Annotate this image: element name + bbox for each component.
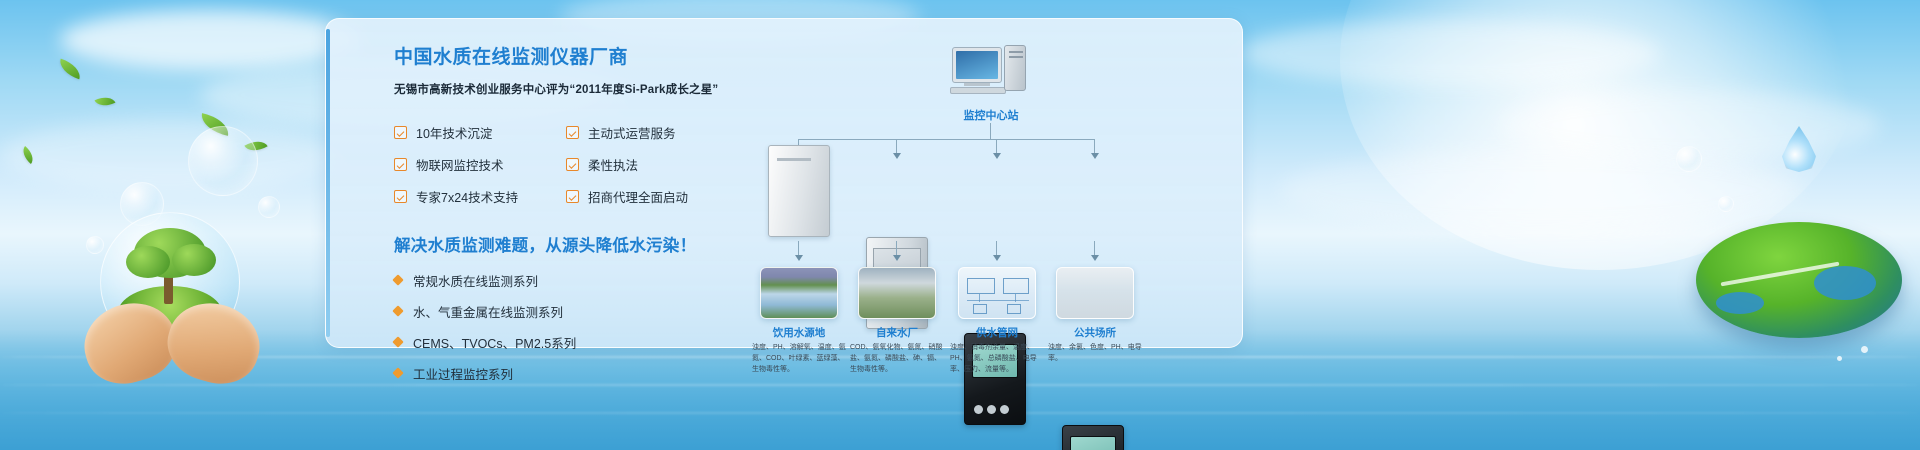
monitor-icon bbox=[952, 47, 1002, 83]
earth-lake bbox=[1814, 266, 1876, 300]
arrow-down-icon bbox=[893, 153, 901, 159]
arrow-down-icon bbox=[993, 255, 1001, 261]
connector-horizontal bbox=[798, 139, 1094, 140]
hands-holding-tree-illustration bbox=[78, 212, 268, 382]
feature-item[interactable]: 物联网监控技术 bbox=[394, 155, 566, 174]
monitor-stand bbox=[964, 83, 990, 86]
cloud bbox=[60, 10, 360, 70]
feature-item[interactable]: 招商代理全面启动 bbox=[566, 187, 738, 206]
wave-line bbox=[0, 384, 1920, 386]
cloud bbox=[1240, 20, 1660, 86]
left-content-column: 中国水质在线监测仪器厂商 无锡市高新技术创业服务中心评为“2011年度Si-Pa… bbox=[394, 47, 754, 395]
leaf-decoration bbox=[95, 93, 116, 111]
product-line-item[interactable]: 水、气重金属在线监测系列 bbox=[394, 302, 754, 321]
water-analyzer-cabinet-icon[interactable] bbox=[768, 145, 830, 237]
scenario-description: 浊度、PH、溶解氧、温度、氨氮、COD、叶绿素、蓝绿藻、生物毒性等。 bbox=[752, 343, 848, 376]
keyboard-icon bbox=[950, 87, 1006, 94]
tree-foliage-icon bbox=[126, 246, 170, 278]
earth-lake bbox=[1716, 292, 1764, 314]
scenario-description: 浊度、消毒剂余量、温度、PH、氨氮、总磷酸盐、电导率、压力、流量等。 bbox=[950, 343, 1046, 376]
public-tap-photo[interactable] bbox=[1056, 267, 1134, 319]
diamond-bullet-icon bbox=[392, 368, 403, 379]
product-line-label: 常规水质在线监测系列 bbox=[413, 271, 538, 290]
wave-line bbox=[0, 412, 1920, 414]
feature-item[interactable]: 专家7x24技术支持 bbox=[394, 187, 566, 206]
monitoring-topology-diagram: 监控中心站 bbox=[756, 37, 1226, 337]
leaf-decoration bbox=[56, 59, 83, 80]
page-subtitle: 无锡市高新技术创业服务中心评为“2011年度Si-Park成长之星” bbox=[394, 81, 754, 97]
checkbox-icon bbox=[394, 158, 407, 171]
product-line-item[interactable]: 常规水质在线监测系列 bbox=[394, 271, 754, 290]
feature-checklist: 10年技术沉淀 主动式运营服务 物联网监控技术 柔性执法 专家7x24技术支持 … bbox=[394, 123, 754, 206]
arrow-down-icon bbox=[795, 255, 803, 261]
bubble-decoration bbox=[1676, 146, 1702, 172]
green-earth-illustration bbox=[1696, 222, 1902, 338]
arrow-down-icon bbox=[893, 255, 901, 261]
checkbox-icon bbox=[566, 190, 579, 203]
diamond-bullet-icon bbox=[392, 306, 403, 317]
checkbox-icon bbox=[394, 126, 407, 139]
cloud bbox=[1280, 150, 1800, 230]
splash-dot bbox=[1837, 356, 1842, 361]
scenario-caption: 饮用水源地 bbox=[744, 325, 854, 340]
cloud bbox=[0, 120, 340, 190]
scenario-caption: 公共场所 bbox=[1040, 325, 1150, 340]
center-station-label: 监控中心站 bbox=[906, 107, 1076, 123]
product-line-label: 水、气重金属在线监测系列 bbox=[413, 302, 563, 321]
monitor-screen bbox=[956, 51, 998, 79]
water-treatment-plant-photo[interactable] bbox=[858, 267, 936, 319]
connector-vertical bbox=[990, 123, 991, 139]
feature-label: 专家7x24技术支持 bbox=[416, 187, 518, 206]
feature-item[interactable]: 柔性执法 bbox=[566, 155, 738, 174]
feature-label: 柔性执法 bbox=[588, 155, 638, 174]
pc-tower-icon bbox=[1004, 45, 1026, 91]
feature-label: 物联网监控技术 bbox=[416, 155, 504, 174]
bubble-decoration bbox=[188, 126, 258, 196]
scenario-description: COD、氨氧化物、氨氮、硝酸盐、氨氮、磷酸盐、砷、镉、生物毒性等。 bbox=[850, 343, 946, 376]
arrow-down-icon bbox=[993, 153, 1001, 159]
panel-meter-dark-icon[interactable] bbox=[1062, 425, 1124, 450]
feature-label: 招商代理全面启动 bbox=[588, 187, 688, 206]
arrow-down-icon bbox=[1091, 153, 1099, 159]
leaf-decoration bbox=[19, 146, 38, 164]
product-line-label: CEMS、TVOCs、PM2.5系列 bbox=[413, 333, 576, 352]
product-line-item[interactable]: CEMS、TVOCs、PM2.5系列 bbox=[394, 333, 754, 352]
checkbox-icon bbox=[566, 158, 579, 171]
bubble-decoration bbox=[1718, 196, 1734, 212]
page-title: 中国水质在线监测仪器厂商 bbox=[394, 47, 754, 70]
feature-label: 主动式运营服务 bbox=[588, 123, 676, 142]
scenario-caption: 自来水厂 bbox=[842, 325, 952, 340]
computer-workstation-icon bbox=[952, 47, 1030, 99]
scenario-caption: 供水管网 bbox=[942, 325, 1052, 340]
tree-foliage-icon bbox=[172, 244, 216, 276]
diamond-bullet-icon bbox=[392, 337, 403, 348]
content-card: 中国水质在线监测仪器厂商 无锡市高新技术创业服务中心评为“2011年度Si-Pa… bbox=[325, 18, 1243, 348]
water-droplet-icon bbox=[1782, 126, 1816, 172]
product-line-list: 常规水质在线监测系列 水、气重金属在线监测系列 CEMS、TVOCs、PM2.5… bbox=[394, 271, 754, 383]
product-line-item[interactable]: 工业过程监控系列 bbox=[394, 364, 754, 383]
pipe-schematic bbox=[959, 268, 1035, 318]
product-line-label: 工业过程监控系列 bbox=[413, 364, 513, 383]
splash-dot bbox=[1861, 346, 1868, 353]
meter-buttons[interactable] bbox=[974, 405, 1009, 414]
checkbox-icon bbox=[394, 190, 407, 203]
feature-item[interactable]: 10年技术沉淀 bbox=[394, 123, 566, 142]
checkbox-icon bbox=[566, 126, 579, 139]
lcd-display bbox=[1070, 436, 1116, 450]
arrow-down-icon bbox=[1091, 255, 1099, 261]
pipe-network-diagram-photo[interactable] bbox=[958, 267, 1036, 319]
section-heading: 解决水质监测难题，从源头降低水污染！ bbox=[394, 232, 754, 256]
scenario-description: 浊度、余氯、色度、PH、电导率。 bbox=[1048, 343, 1144, 365]
feature-item[interactable]: 主动式运营服务 bbox=[566, 123, 738, 142]
feature-label: 10年技术沉淀 bbox=[416, 123, 492, 142]
river-reservoir-photo[interactable] bbox=[760, 267, 838, 319]
diamond-bullet-icon bbox=[392, 275, 403, 286]
